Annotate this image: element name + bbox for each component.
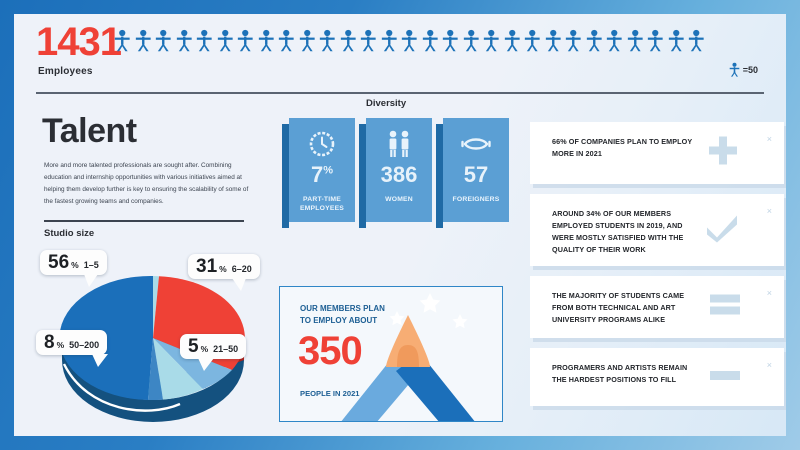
headcount-label: Employees bbox=[38, 66, 93, 77]
person-icon bbox=[481, 29, 502, 53]
pie-callout-21-50: 5 % 21–50 bbox=[180, 334, 246, 359]
diversity-card-part-time[interactable]: 7% PART-TIME EMPLOYEES bbox=[289, 118, 355, 222]
person-icon bbox=[543, 29, 564, 53]
fact-card-companies-plan[interactable]: 66% OF COMPANIES PLAN TO EMPLOY MORE IN … bbox=[530, 122, 784, 184]
person-icon bbox=[256, 29, 277, 53]
person-icon bbox=[728, 62, 741, 78]
chart-title: Studio size bbox=[44, 228, 94, 239]
person-icon bbox=[276, 29, 297, 53]
callout-tail bbox=[92, 354, 108, 367]
person-icon bbox=[133, 29, 154, 53]
fact-card-students-employed[interactable]: AROUND 34% OF OUR MEMBERS EMPLOYED STUDE… bbox=[530, 194, 784, 266]
person-icon bbox=[522, 29, 543, 53]
person-icon bbox=[215, 29, 236, 53]
person-icon bbox=[645, 29, 666, 53]
studio-size-pie-chart: 56 % 1–5 31 % 6–20 8 % 50–200 5 bbox=[28, 242, 278, 432]
person-icon bbox=[153, 29, 174, 53]
pie-callout-range: 21–50 bbox=[213, 344, 238, 354]
fact-text: AROUND 34% OF OUR MEMBERS EMPLOYED STUDE… bbox=[552, 208, 702, 256]
close-icon[interactable]: × bbox=[767, 206, 772, 216]
person-icon bbox=[502, 29, 523, 53]
pie-callout-50-200: 8 % 50–200 bbox=[36, 330, 107, 355]
employment-plan-card: OUR MEMBERS PLAN TO EMPLOY ABOUT 350 PEO… bbox=[279, 286, 503, 422]
pie-callout-value: 31 bbox=[196, 257, 217, 276]
person-icon bbox=[194, 29, 215, 53]
equals-bars-icon bbox=[710, 293, 740, 322]
person-icon bbox=[420, 29, 441, 53]
pie-callout-value: 8 bbox=[44, 333, 55, 352]
diversity-label: PART-TIME EMPLOYEES bbox=[300, 195, 344, 213]
diversity-label: WOMEN bbox=[385, 195, 413, 204]
person-icon bbox=[440, 29, 461, 53]
diversity-value: 57 bbox=[464, 164, 488, 186]
fact-text: 66% OF COMPANIES PLAN TO EMPLOY MORE IN … bbox=[552, 136, 702, 160]
pie-callout-1-5: 56 % 1–5 bbox=[40, 250, 107, 275]
plan-subline: PEOPLE IN 2021 bbox=[300, 389, 360, 398]
diversity-value: 386 bbox=[381, 164, 418, 186]
person-icon bbox=[358, 29, 379, 53]
clock-icon bbox=[307, 128, 337, 160]
pie-callout-value: 56 bbox=[48, 253, 69, 272]
infographic-slide: 1431 Employees =50 Talent More and more … bbox=[0, 0, 800, 450]
header: 1431 Employees =50 bbox=[14, 14, 786, 86]
left-divider bbox=[44, 220, 244, 222]
diversity-title: Diversity bbox=[366, 98, 406, 109]
person-icon bbox=[297, 29, 318, 53]
percent-symbol: % bbox=[219, 264, 227, 274]
person-icon bbox=[563, 29, 584, 53]
callout-tail bbox=[84, 274, 98, 287]
single-bar-icon bbox=[710, 368, 740, 386]
plus-icon bbox=[706, 134, 740, 173]
check-icon bbox=[704, 213, 740, 248]
person-icon bbox=[604, 29, 625, 53]
fact-card-university-programs[interactable]: THE MAJORITY OF STUDENTS CAME FROM BOTH … bbox=[530, 276, 784, 338]
fact-card-hardest-positions[interactable]: PROGRAMERS AND ARTISTS REMAIN THE HARDES… bbox=[530, 348, 784, 406]
person-icon bbox=[112, 29, 133, 53]
fact-text: THE MAJORITY OF STUDENTS CAME FROM BOTH … bbox=[552, 290, 702, 326]
plan-headline: OUR MEMBERS PLAN TO EMPLOY ABOUT bbox=[300, 303, 385, 327]
diversity-card-women[interactable]: 386 WOMEN bbox=[366, 118, 432, 222]
globe-icon bbox=[459, 128, 493, 160]
diversity-label: FOREIGNERS bbox=[453, 195, 500, 204]
pie-callout-value: 5 bbox=[188, 337, 199, 356]
close-icon[interactable]: × bbox=[767, 288, 772, 298]
pie-callout-6-20: 31 % 6–20 bbox=[188, 254, 260, 279]
callout-tail bbox=[232, 278, 246, 291]
diversity-value: 7% bbox=[311, 164, 333, 186]
pie-callout-range: 6–20 bbox=[232, 264, 252, 274]
slide-canvas: 1431 Employees =50 Talent More and more … bbox=[14, 14, 786, 436]
percent-symbol: % bbox=[57, 340, 65, 350]
headcount-value: 1431 bbox=[36, 22, 121, 62]
person-pictogram-row bbox=[112, 26, 712, 56]
person-icon bbox=[625, 29, 646, 53]
page-title: Talent bbox=[42, 112, 137, 151]
pictogram-legend: =50 bbox=[728, 62, 758, 78]
person-icon bbox=[338, 29, 359, 53]
percent-symbol: % bbox=[201, 344, 209, 354]
person-icon bbox=[317, 29, 338, 53]
pie-callout-range: 1–5 bbox=[84, 260, 99, 270]
close-icon[interactable]: × bbox=[767, 134, 772, 144]
two-people-icon bbox=[383, 128, 415, 160]
header-divider bbox=[36, 92, 764, 94]
person-icon bbox=[584, 29, 605, 53]
person-icon bbox=[399, 29, 420, 53]
legend-label: =50 bbox=[743, 65, 758, 75]
diversity-card-foreigners[interactable]: 57 FOREIGNERS bbox=[443, 118, 509, 222]
person-icon bbox=[235, 29, 256, 53]
fact-text: PROGRAMERS AND ARTISTS REMAIN THE HARDES… bbox=[552, 362, 702, 386]
person-icon bbox=[379, 29, 400, 53]
person-icon bbox=[461, 29, 482, 53]
close-icon[interactable]: × bbox=[767, 360, 772, 370]
person-icon bbox=[174, 29, 195, 53]
person-icon bbox=[686, 29, 707, 53]
person-icon bbox=[666, 29, 687, 53]
intro-paragraph: More and more talented professionals are… bbox=[44, 160, 250, 207]
plan-number: 350 bbox=[298, 331, 362, 371]
pie-callout-range: 50–200 bbox=[69, 340, 99, 350]
callout-tail bbox=[198, 358, 214, 371]
percent-symbol: % bbox=[71, 260, 79, 270]
